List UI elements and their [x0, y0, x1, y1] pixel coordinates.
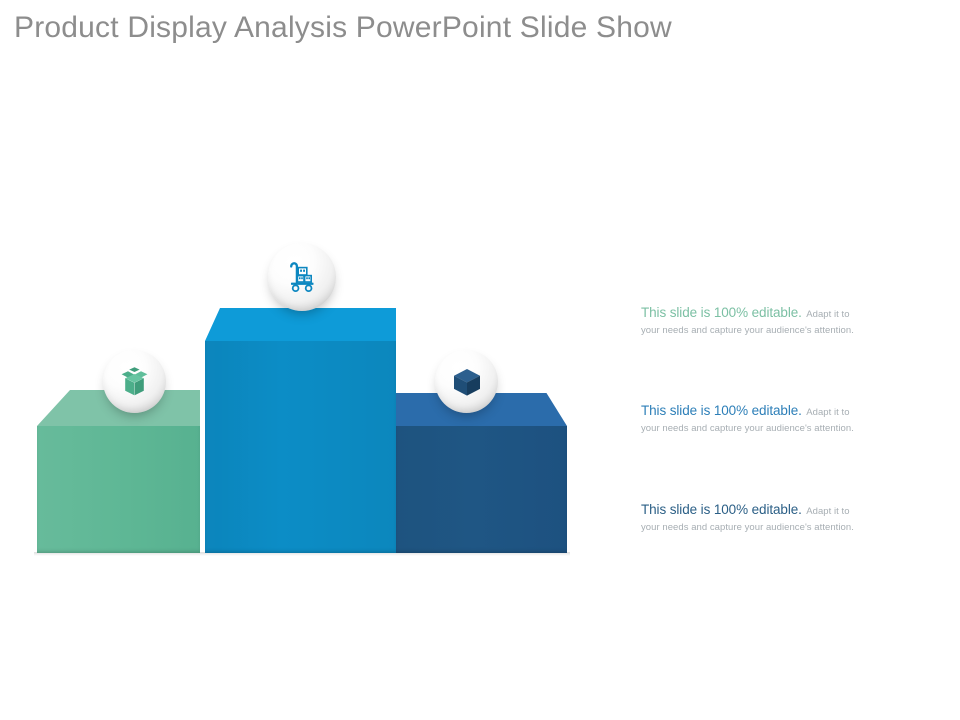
- icon-badge-left[interactable]: [103, 350, 166, 413]
- podium-center-top-face: [205, 308, 396, 341]
- podium-block-center[interactable]: [205, 308, 396, 553]
- page-title: Product Display Analysis PowerPoint Slid…: [14, 11, 914, 45]
- description-block-2: This slide is 100% editable. Adapt it to…: [641, 404, 926, 435]
- podium-diagram: [0, 230, 620, 570]
- podium-left-front-face: [37, 426, 200, 553]
- icon-badge-right[interactable]: [435, 350, 498, 413]
- description-heading-1: This slide is 100% editable.: [641, 305, 802, 320]
- description-body-3: your needs and capture your audience's a…: [641, 521, 926, 534]
- description-line-1: This slide is 100% editable. Adapt it to: [641, 306, 926, 322]
- hand-truck-boxes-icon: [285, 260, 319, 294]
- description-line-2: This slide is 100% editable. Adapt it to: [641, 404, 926, 420]
- cube-icon: [451, 366, 483, 398]
- podium-block-left[interactable]: [37, 390, 200, 553]
- description-subhead-2: Adapt it to: [806, 407, 849, 418]
- podium-center-front-face: [205, 341, 396, 553]
- description-body-1: your needs and capture your audience's a…: [641, 324, 926, 337]
- slide-canvas: Product Display Analysis PowerPoint Slid…: [0, 0, 960, 720]
- description-subhead-3: Adapt it to: [806, 506, 849, 517]
- description-heading-3: This slide is 100% editable.: [641, 502, 802, 517]
- icon-badge-center[interactable]: [268, 243, 336, 311]
- description-line-3: This slide is 100% editable. Adapt it to: [641, 503, 926, 519]
- description-block-3: This slide is 100% editable. Adapt it to…: [641, 503, 926, 534]
- description-heading-2: This slide is 100% editable.: [641, 403, 802, 418]
- description-subhead-1: Adapt it to: [806, 309, 849, 320]
- description-body-2: your needs and capture your audience's a…: [641, 422, 926, 435]
- podium-block-right[interactable]: [396, 393, 567, 553]
- podium-right-front-face: [396, 426, 567, 553]
- description-block-1: This slide is 100% editable. Adapt it to…: [641, 306, 926, 337]
- open-box-icon: [118, 365, 151, 398]
